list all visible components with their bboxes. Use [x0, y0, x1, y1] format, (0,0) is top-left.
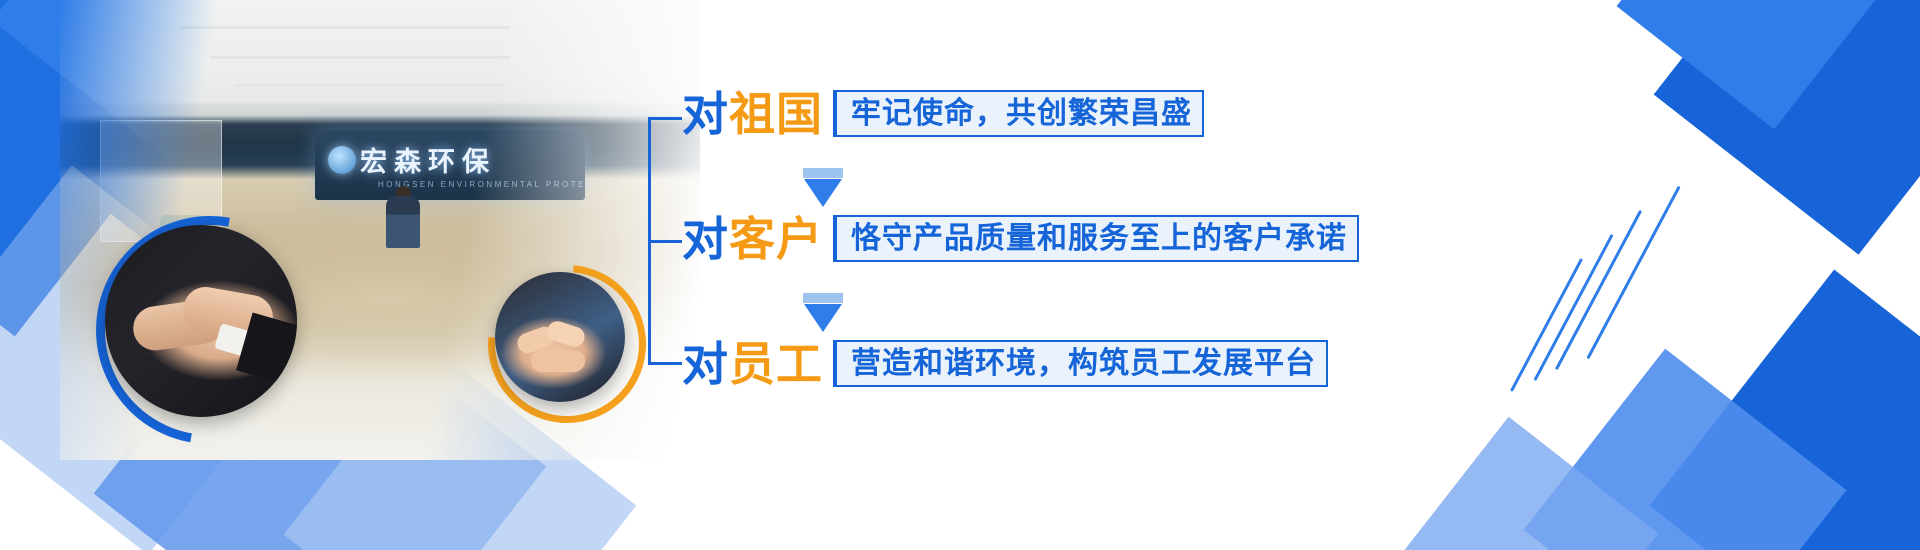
receptionist-body	[386, 196, 420, 248]
company-logo-icon	[328, 146, 356, 174]
value-row-country: 对祖国 牢记使命，共创繁荣昌盛	[682, 90, 1204, 137]
value-lead-prefix: 对	[682, 87, 729, 141]
arrow-bar-1	[803, 168, 843, 178]
value-row-employee: 对员工 营造和谐环境，构筑员工发展平台	[682, 340, 1328, 387]
value-lead-prefix: 对	[682, 212, 729, 266]
bracket-tick-top	[648, 117, 682, 120]
value-lead-country: 对祖国	[682, 91, 823, 137]
thumb-3	[531, 350, 585, 372]
decor-right-line-3	[1510, 258, 1583, 392]
ceiling-line-2	[210, 56, 510, 59]
decor-right-line-2	[1533, 234, 1613, 381]
company-values-banner: 宏森环保 HONGSEN ENVIRONMENTAL PROTECTION 对祖	[0, 0, 1920, 550]
value-lead-highlight: 客户	[729, 212, 823, 266]
ceiling-line-1	[180, 26, 510, 29]
value-callout-country: 牢记使命，共创繁荣昌盛	[833, 90, 1204, 137]
value-callout-text: 恪守产品质量和服务至上的客户承诺	[851, 221, 1347, 256]
value-lead-employee: 对员工	[682, 341, 823, 387]
bracket-tick-bottom	[648, 362, 682, 365]
value-lead-customer: 对客户	[682, 216, 823, 262]
value-lead-highlight: 祖国	[729, 87, 823, 141]
arrow-triangle-1	[804, 179, 842, 207]
value-lead-highlight: 员工	[729, 337, 823, 391]
arrow-bar-2	[803, 293, 843, 303]
values-content: 对祖国 牢记使命，共创繁荣昌盛 对客户 恪守产品质量和服务至上的客户承诺	[648, 72, 1368, 402]
value-row-customer: 对客户 恪守产品质量和服务至上的客户承诺	[682, 215, 1359, 262]
thumb-2	[545, 319, 587, 350]
value-callout-customer: 恪守产品质量和服务至上的客户承诺	[833, 215, 1359, 262]
company-sign-text: 宏森环保	[360, 140, 600, 180]
decor-right-line-4	[1586, 186, 1680, 360]
bracket-tick-middle	[648, 240, 682, 243]
value-lead-prefix: 对	[682, 337, 729, 391]
value-callout-text: 营造和谐环境，构筑员工发展平台	[851, 346, 1316, 381]
thumbs-up-team-photo	[495, 272, 625, 402]
handshake-photo	[105, 225, 297, 417]
value-callout-employee: 营造和谐环境，构筑员工发展平台	[833, 340, 1328, 387]
decor-right-line-1	[1555, 210, 1642, 370]
value-callout-text: 牢记使命，共创繁荣昌盛	[851, 96, 1192, 131]
company-sign-subtext: HONGSEN ENVIRONMENTAL PROTECTION	[378, 180, 623, 189]
ceiling-line-3	[235, 84, 505, 87]
arrow-triangle-2	[804, 304, 842, 332]
